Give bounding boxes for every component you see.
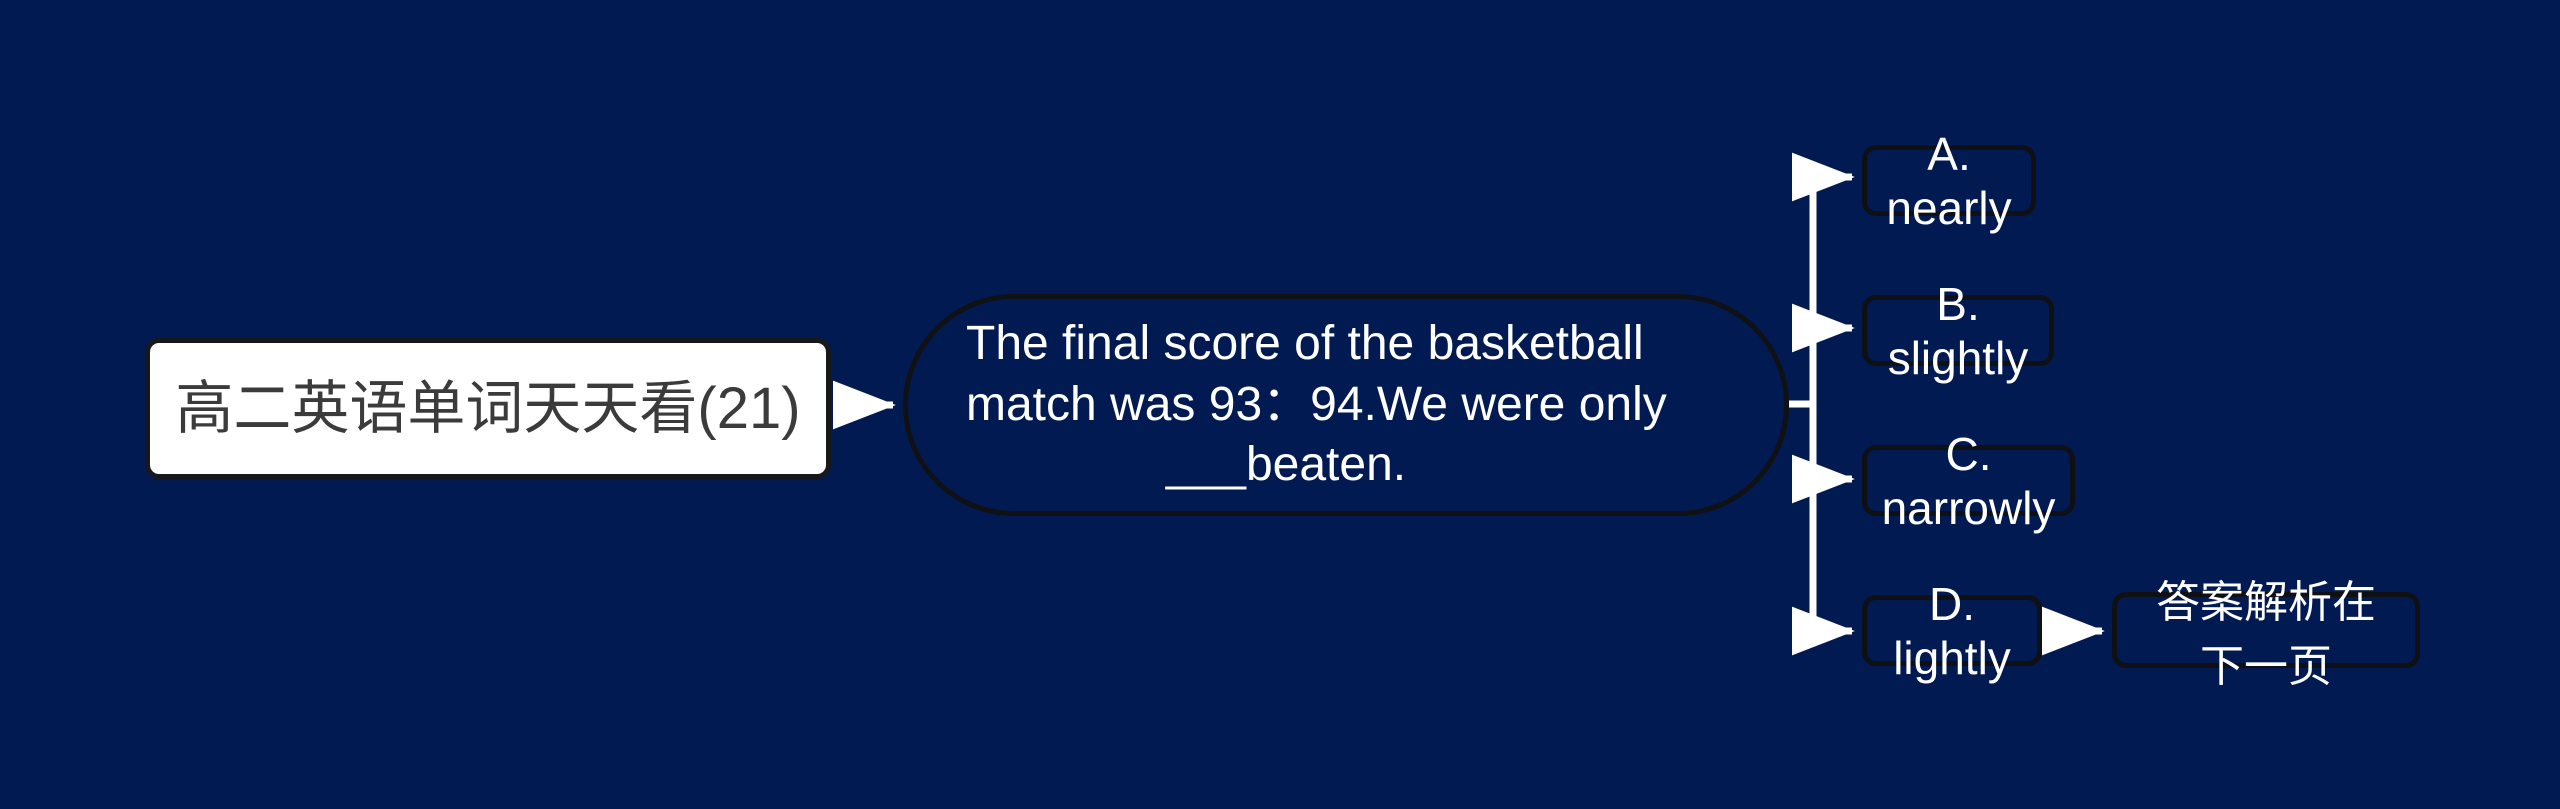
question-line-1: The final score of the basketball [966, 314, 1726, 374]
mindmap-canvas: 高二英语单词天天看(21) The final score of the bas… [0, 0, 2560, 809]
option-node-b[interactable]: B. slightly [1862, 295, 2054, 366]
option-c-label: C. narrowly [1882, 427, 2056, 535]
root-node-label: 高二英语单词天天看(21) [175, 377, 800, 441]
answer-note-label: 答案解析在下一页 [2135, 566, 2397, 694]
root-node[interactable]: 高二英语单词天天看(21) [145, 338, 831, 479]
option-node-d[interactable]: D. lightly [1862, 595, 2042, 666]
question-line-2: match was 93：94.We were only [966, 375, 1726, 435]
question-node[interactable]: The final score of the basketball match … [903, 294, 1789, 516]
question-line-3: ___beaten. [906, 435, 1786, 495]
option-node-c[interactable]: C. narrowly [1862, 445, 2075, 516]
option-node-a[interactable]: A. nearly [1862, 145, 2036, 216]
answer-note-node[interactable]: 答案解析在下一页 [2112, 592, 2420, 668]
option-d-label: D. lightly [1889, 577, 2015, 685]
option-a-label: A. nearly [1886, 127, 2011, 235]
option-b-label: B. slightly [1888, 277, 2029, 385]
